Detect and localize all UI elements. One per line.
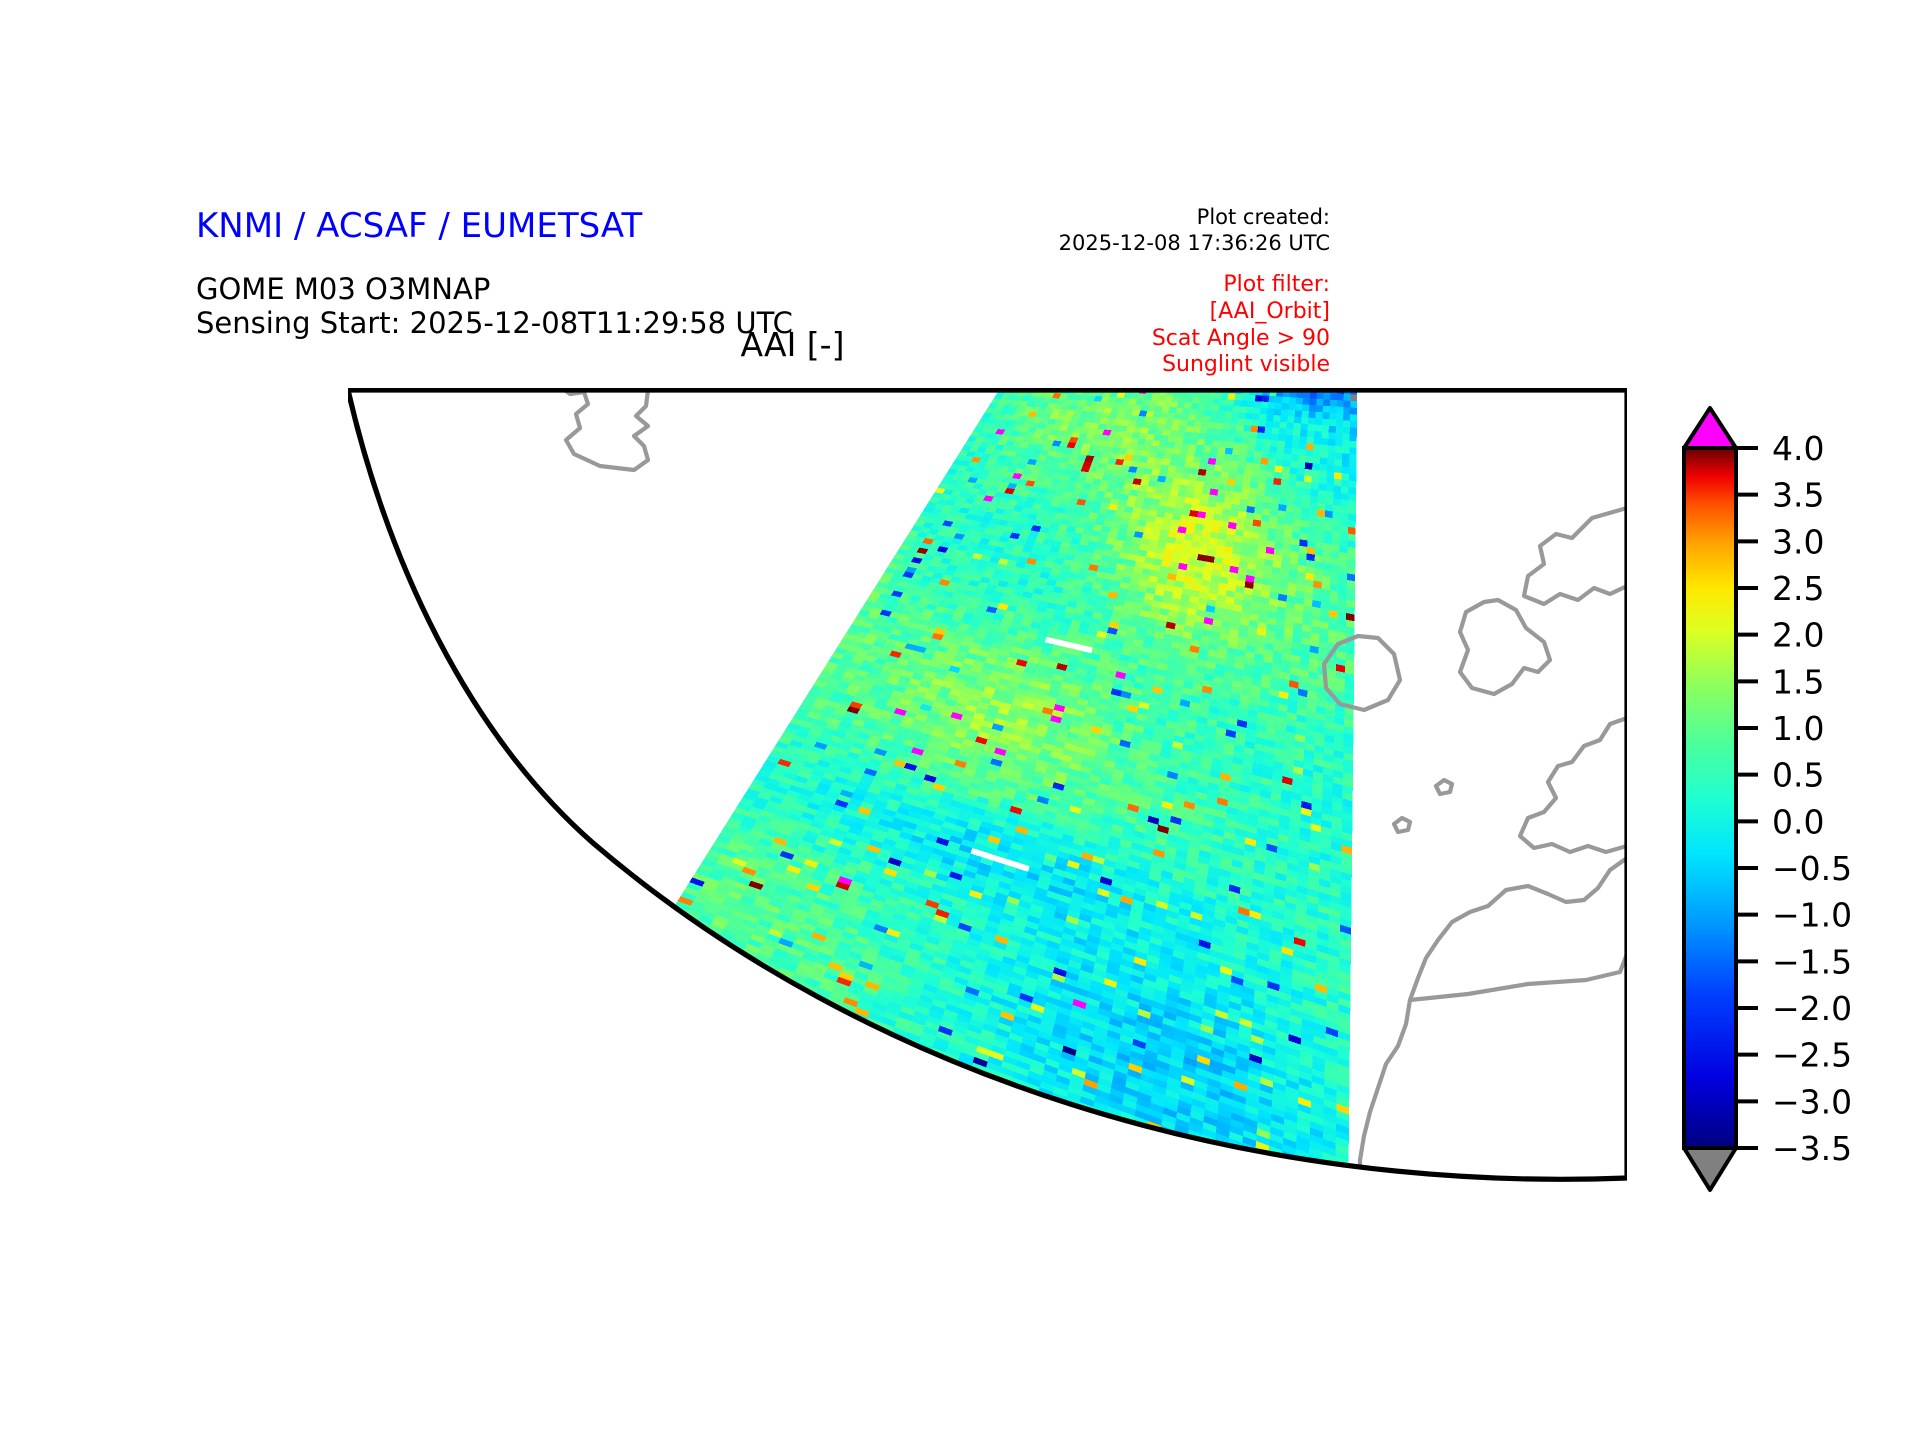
swath-pixel (1191, 432, 1200, 439)
swath-pixel (1228, 522, 1237, 529)
swath-pixel (1198, 403, 1206, 409)
swath-pixel (1267, 465, 1275, 472)
swath-pixel (1185, 397, 1193, 403)
swath-pixel (1207, 392, 1215, 398)
swath-pixel (1279, 498, 1287, 505)
swath-pixel (1269, 516, 1278, 523)
swath-pixel (1244, 468, 1252, 475)
swath-pixel (1334, 466, 1342, 473)
swath-pixel (1234, 394, 1242, 401)
swath-pixel (1201, 421, 1209, 428)
swath-pixel (1322, 419, 1329, 426)
swath-pixel (1210, 532, 1219, 539)
swath-pixel (1133, 478, 1142, 485)
swath-pixel (1220, 435, 1228, 442)
swath-pixel (1339, 572, 1347, 580)
swath-pixel (1350, 421, 1357, 428)
page-title: AAI [-] (0, 325, 1920, 364)
swath-pixel (1286, 505, 1294, 512)
plot-filter-block: Plot filter: [AAI_Orbit] Scat Angle > 90… (1152, 272, 1330, 379)
swath-pixel (1214, 393, 1222, 399)
swath-pixel (1323, 399, 1330, 406)
swath-pixel (1307, 547, 1315, 555)
swath-pixel (1276, 529, 1285, 537)
swath-pixel (1284, 530, 1293, 538)
swath-pixel (1254, 401, 1262, 408)
swath-pixel (1193, 492, 1202, 499)
swath-pixel (1282, 397, 1289, 404)
swath-pixel (1333, 492, 1341, 500)
swath-pixel (1304, 475, 1312, 482)
swath-pixel (1340, 513, 1348, 521)
swath-pixel (1343, 414, 1350, 421)
swath-pixel (1180, 479, 1189, 486)
swath-pixel (1292, 436, 1300, 443)
swath-pixel (1220, 521, 1229, 528)
swath-pixel (1211, 404, 1219, 410)
swath-pixel (1319, 477, 1327, 484)
swath-pixel (1305, 462, 1313, 469)
swath-pixel (1348, 500, 1356, 508)
swath-pixel (1287, 499, 1295, 506)
swath-pixel (1271, 497, 1279, 504)
swath-pixel (1234, 486, 1243, 493)
swath-pixel (1301, 520, 1309, 528)
map-plot-area[interactable] (348, 388, 1627, 1191)
swath-pixel (1322, 412, 1329, 419)
swath-pixel (1165, 447, 1174, 454)
swath-pixel (1245, 462, 1253, 469)
swath-pixel (1339, 559, 1347, 567)
swath-pixel (1307, 437, 1315, 444)
swath-pixel (1223, 417, 1231, 424)
swath-pixel (1343, 427, 1350, 434)
swath-pixel (1341, 480, 1349, 488)
swath-pixel (1323, 550, 1331, 558)
swath-pixel (1350, 427, 1357, 434)
swath-pixel (1183, 503, 1192, 510)
swath-pixel (1266, 471, 1274, 478)
swath-pixel (1207, 464, 1216, 471)
swath-pixel (1311, 483, 1319, 490)
swath-pixel (1328, 445, 1336, 452)
swath-pixel (1272, 427, 1280, 434)
swath-pixel (1156, 452, 1165, 459)
swath-pixel (1236, 474, 1244, 481)
swath-pixel (1320, 451, 1328, 458)
swath-pixel (1344, 394, 1351, 401)
swath-pixel (1225, 540, 1234, 547)
swath-pixel (1272, 491, 1280, 498)
swath-pixel (1266, 477, 1274, 484)
swath-pixel (1194, 421, 1202, 428)
swath-pixel (1286, 429, 1294, 436)
swath-pixel (1210, 446, 1218, 453)
swath-pixel (1309, 398, 1316, 405)
swath-pixel (1316, 522, 1324, 530)
swath-pixel (1350, 408, 1357, 415)
swath-pixel (1214, 429, 1222, 436)
swath-pixel (1285, 518, 1293, 526)
swath-pixel (1315, 425, 1322, 432)
product-name: GOME M03 O3MNAP (196, 272, 490, 306)
swath-pixel (1287, 416, 1295, 423)
swath-pixel (1203, 445, 1212, 452)
swath-pixel (1283, 460, 1291, 467)
swath-pixel (1312, 463, 1320, 470)
swath-pixel (1299, 539, 1307, 547)
swath-pixel (1317, 392, 1324, 399)
swath-pixel (1264, 490, 1272, 497)
swath-pixel (1258, 539, 1267, 547)
swath-pixel (1275, 466, 1283, 473)
swath-pixel (1196, 517, 1205, 524)
swath-pixel (1185, 528, 1194, 535)
swath-pixel (1217, 490, 1226, 497)
swath-pixel (1308, 521, 1316, 529)
swath-pixel (1229, 424, 1237, 431)
swath-pixel (1348, 494, 1356, 502)
swath-pixel (1328, 432, 1335, 439)
swath-pixel (1243, 531, 1252, 538)
swath-pixel (1339, 565, 1347, 573)
swath-pixel (1236, 523, 1245, 530)
swath-pixel (1275, 403, 1283, 410)
swath-pixel (1283, 543, 1292, 551)
swath-pixel (1279, 422, 1287, 429)
swath-pixel (1303, 488, 1311, 495)
swath-pixel (1146, 486, 1155, 493)
swath-pixel (1326, 491, 1334, 499)
swath-pixel (1266, 414, 1274, 421)
swath-pixel (1323, 543, 1331, 551)
swath-pixel (1330, 400, 1337, 407)
swath-pixel (1251, 532, 1260, 539)
swath-pixel (1164, 424, 1173, 430)
swath-pixel (1291, 538, 1300, 546)
swath-pixel (1174, 472, 1183, 479)
swath-pixel (1348, 540, 1356, 548)
swath-pixel (1216, 417, 1224, 424)
swath-pixel (1156, 511, 1165, 518)
swath-pixel (1255, 501, 1264, 508)
swath-pixel (1288, 410, 1296, 417)
swath-pixel (1175, 502, 1184, 509)
swath-pixel (1206, 398, 1214, 404)
swath-pixel (1204, 518, 1213, 525)
swath-pixel (1249, 488, 1257, 495)
swath-pixel (1247, 500, 1256, 507)
swath-pixel (1233, 442, 1241, 449)
swath-pixel (1181, 473, 1190, 480)
swath-pixel (1237, 418, 1245, 425)
swath-pixel (1211, 483, 1220, 490)
swath-pixel (1251, 469, 1259, 476)
swath-pixel (1207, 428, 1215, 435)
swath-pixel (1333, 505, 1341, 513)
swath-pixel (1188, 414, 1196, 420)
swath-pixel (1285, 435, 1293, 442)
plot-created-label: Plot created: (1059, 205, 1330, 231)
swath-pixel (1246, 407, 1254, 414)
swath-pixel (1225, 491, 1234, 498)
swath-pixel (1335, 439, 1342, 446)
swath-pixel (1285, 511, 1293, 519)
swath-pixel (1216, 453, 1224, 460)
swath-pixel (1189, 474, 1198, 481)
swath-pixel (1309, 515, 1317, 523)
swath-pixel (1265, 483, 1273, 490)
swath-pixel (1331, 557, 1339, 565)
swath-pixel (1137, 491, 1146, 498)
swath-pixel (1267, 408, 1275, 415)
swath-pixel (1295, 487, 1303, 494)
swath-pixel (1200, 457, 1209, 464)
organization-title: KNMI / ACSAF / EUMETSAT (196, 206, 642, 246)
swath-pixel (1343, 407, 1350, 414)
swath-pixel (1314, 561, 1323, 569)
swath-pixel (1315, 412, 1322, 419)
swath-pixel (1184, 402, 1192, 408)
swath-pixel (1254, 507, 1263, 514)
swath-pixel (1159, 441, 1168, 447)
swath-pixel (1341, 473, 1349, 481)
swath-pixel (1192, 462, 1201, 469)
swath-pixel (1209, 452, 1218, 459)
swath-pixel (1286, 422, 1294, 429)
swath-pixel (1320, 458, 1328, 465)
swath-pixel (1258, 476, 1266, 483)
swath-pixel (1250, 481, 1258, 488)
swath-pixel (1139, 485, 1148, 492)
swath-pixel (1166, 442, 1175, 449)
swath-pixel (1350, 394, 1357, 401)
swath-pixel (1258, 420, 1266, 427)
swath-pixel (1301, 514, 1309, 522)
swath-pixel (1175, 437, 1184, 444)
swath-pixel (1326, 478, 1334, 486)
swath-pixel (1312, 470, 1320, 477)
swath-pixel (1274, 472, 1282, 479)
swath-pixel (1293, 519, 1301, 527)
swath-pixel (1296, 481, 1304, 488)
swath-pixel (1234, 436, 1242, 443)
swath-pixel (1255, 395, 1263, 402)
swath-pixel (1255, 445, 1263, 452)
swath-pixel (1350, 441, 1357, 448)
swath-pixel (1276, 523, 1285, 531)
swath-pixel (1280, 492, 1288, 499)
swath-pixel (1318, 496, 1326, 504)
swath-pixel (1244, 419, 1252, 426)
swath-pixel (1309, 405, 1316, 412)
swath-pixel (1349, 487, 1357, 495)
swath-pixel (1169, 430, 1178, 436)
swath-pixel (1277, 447, 1285, 454)
swath-pixel (1221, 429, 1229, 436)
swath-pixel (1269, 396, 1277, 403)
swath-pixel (1262, 396, 1270, 403)
swath-pixel (1317, 516, 1325, 524)
swath-pixel (1349, 481, 1357, 489)
swath-pixel (1199, 499, 1208, 506)
swath-pixel (1225, 405, 1233, 412)
swath-pixel (1257, 426, 1265, 433)
swath-pixel (1301, 424, 1309, 431)
swath-pixel (1163, 482, 1172, 489)
swath-pixel (1184, 461, 1193, 468)
swath-pixel (1247, 401, 1255, 408)
swath-pixel (1181, 443, 1190, 450)
swath-pixel (1306, 450, 1314, 457)
swath-pixel (1310, 495, 1318, 503)
swath-pixel (1135, 496, 1144, 503)
swath-pixel (1318, 490, 1326, 498)
swath-pixel (1349, 447, 1356, 454)
swath-pixel (1314, 438, 1322, 445)
swath-pixel (1160, 494, 1169, 501)
swath-pixel (1293, 429, 1301, 436)
swath-pixel (1142, 503, 1151, 510)
plot-created-timestamp: 2025-12-08 17:36:26 UTC (1059, 231, 1330, 257)
swath-pixel (1217, 411, 1225, 418)
swath-pixel (1347, 547, 1355, 555)
swath-pixel (1185, 491, 1194, 498)
swath-pixel (1169, 460, 1178, 467)
swath-pixel (1177, 402, 1185, 408)
swath-pixel (1325, 504, 1333, 512)
swath-pixel (1323, 556, 1331, 564)
swath-pixel (1189, 510, 1198, 517)
swath-pixel (1299, 436, 1307, 443)
swath-pixel (1210, 410, 1218, 416)
swath-pixel (1316, 535, 1324, 543)
swath-pixel (1192, 427, 1200, 434)
swath-pixel (1344, 401, 1351, 408)
swath-pixel (1347, 560, 1355, 568)
swath-pixel (1173, 508, 1182, 515)
swath-pixel (1244, 524, 1253, 531)
swath-pixel (1273, 478, 1281, 485)
swath-pixel (1285, 441, 1293, 448)
swath-pixel (1303, 398, 1310, 405)
swath-pixel (1273, 415, 1281, 422)
swath-pixel (1233, 492, 1242, 499)
swath-pixel (1348, 507, 1356, 515)
swath-pixel (1315, 542, 1323, 550)
swath-pixel (1305, 456, 1313, 463)
swath-pixel (1333, 498, 1341, 506)
swath-pixel (1278, 434, 1286, 441)
swath-pixel (1299, 546, 1308, 554)
swath-pixel (1318, 484, 1326, 491)
swath-pixel (1292, 442, 1300, 449)
swath-pixel (1269, 452, 1277, 459)
swath-pixel (1241, 394, 1249, 401)
swath-pixel (1212, 520, 1221, 527)
swath-pixel (1237, 461, 1245, 468)
swath-pixel (1197, 475, 1206, 482)
swath-pixel (1306, 560, 1315, 568)
swath-pixel (1203, 482, 1212, 489)
swath-pixel (1274, 409, 1282, 416)
swath-pixel (1322, 425, 1329, 432)
swath-pixel (1150, 504, 1159, 511)
swath-pixel (1149, 475, 1158, 482)
swath-pixel (1261, 521, 1270, 528)
swath-pixel (1249, 544, 1258, 552)
swath-pixel (1325, 510, 1333, 518)
swath-pixel (1181, 414, 1189, 420)
swath-pixel (1262, 445, 1270, 452)
swath-pixel (1313, 457, 1321, 464)
swath-pixel (1239, 505, 1248, 512)
swath-pixel (1340, 539, 1348, 547)
swath-pixel (1222, 509, 1231, 516)
swath-pixel (1150, 446, 1159, 453)
swath-pixel (1317, 509, 1325, 517)
swath-pixel (1349, 474, 1357, 482)
swath-pixel (1187, 450, 1196, 457)
plot-filter-condition: Scat Angle > 90 (1152, 326, 1330, 353)
swath-pixel (1214, 508, 1223, 515)
swath-pixel (1134, 502, 1144, 509)
swath-pixel (1303, 482, 1311, 489)
swath-pixel (1245, 413, 1253, 420)
swath-pixel (1222, 423, 1230, 430)
swath-pixel (1172, 514, 1181, 521)
swath-pixel (1147, 457, 1156, 464)
swath-pixel (1189, 409, 1197, 415)
swath-pixel (1265, 427, 1273, 434)
swath-pixel (1303, 392, 1310, 399)
swath-pixel (1170, 489, 1179, 496)
swath-pixel (1159, 500, 1168, 507)
swath-pixel (1274, 542, 1283, 550)
swath-pixel (1168, 436, 1177, 442)
swath-pixel (1332, 531, 1340, 539)
swath-pixel (1125, 477, 1134, 484)
swath-pixel (1317, 503, 1325, 511)
swath-pixel (1308, 418, 1315, 425)
swath-pixel (1259, 533, 1268, 541)
swath-pixel (1177, 526, 1186, 533)
swath-pixel (1270, 509, 1278, 516)
swath-pixel (1288, 486, 1296, 493)
swath-pixel (1226, 442, 1234, 449)
swath-pixel (1242, 537, 1251, 545)
swath-pixel (1226, 534, 1235, 541)
swath-pixel (1247, 450, 1255, 457)
swath-pixel (1211, 526, 1220, 533)
swath-pixel (1283, 537, 1292, 545)
swath-pixel (1185, 456, 1194, 463)
swath-pixel (1205, 434, 1213, 441)
swath-pixel (1151, 499, 1160, 506)
swath-pixel (1329, 419, 1336, 426)
swath-pixel (1242, 481, 1251, 488)
swath-pixel (1320, 464, 1328, 471)
swath-pixel (1337, 400, 1344, 407)
swath-pixel (1193, 456, 1202, 463)
swath-pixel (1292, 532, 1300, 540)
swath-pixel (1329, 413, 1336, 420)
swath-pixel (1311, 476, 1319, 483)
swath-pixel (1195, 445, 1204, 452)
swath-pixel (1340, 519, 1348, 527)
swath-pixel (1281, 403, 1289, 410)
swath-pixel (1327, 465, 1335, 472)
